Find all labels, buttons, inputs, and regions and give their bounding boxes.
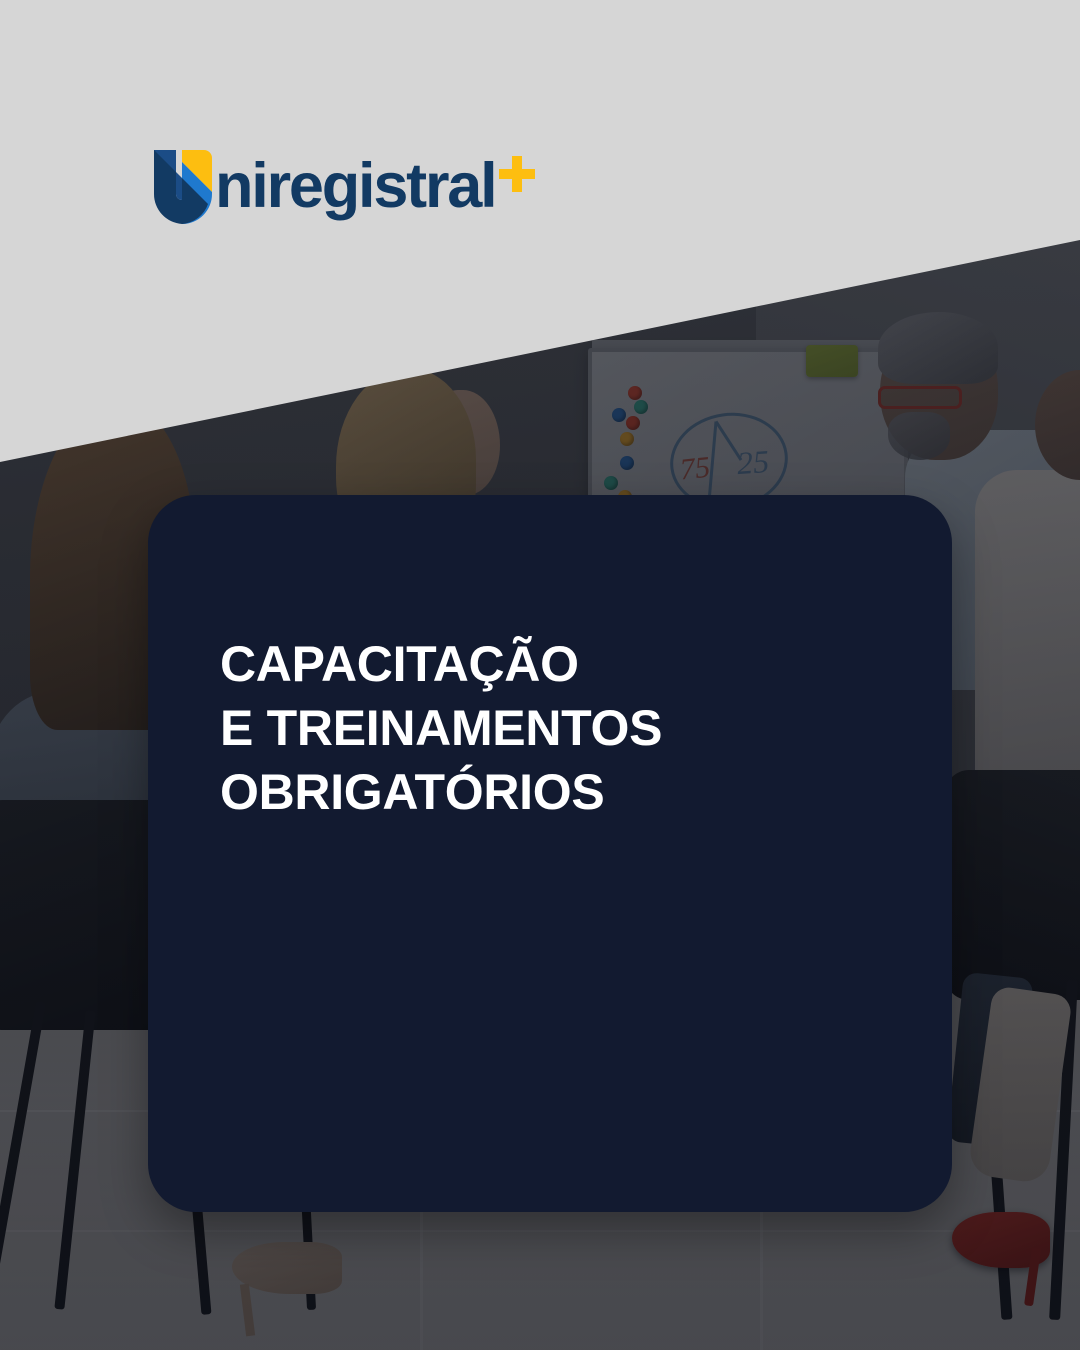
page-title: CAPACITAÇÃO E TREINAMENTOS OBRIGATÓRIOS [220, 632, 900, 824]
plus-icon [499, 156, 535, 192]
brand-logo-wordmark: niregistral [215, 148, 495, 224]
title-card: CAPACITAÇÃO E TREINAMENTOS OBRIGATÓRIOS [148, 495, 952, 1212]
brand-logo[interactable]: niregistral [152, 148, 535, 224]
uniregistral-u-monogram-icon [152, 148, 214, 224]
poster-canvas: 75 25 [0, 0, 1080, 1350]
